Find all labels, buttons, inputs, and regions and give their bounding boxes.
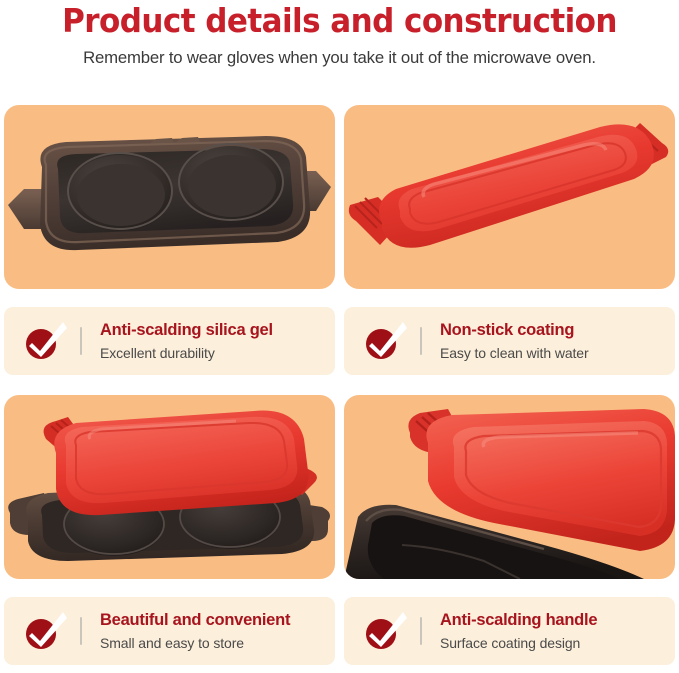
feature-subtitle: Surface coating design [440,631,597,653]
feature-grid: Anti-scalding silica gel Excellent durab… [0,100,679,673]
feature-title: Anti-scalding silica gel [100,320,273,341]
caption-divider [420,617,422,645]
feature-cell-anti-scalding-handle: Anti-scalding handle Surface coating des… [344,395,675,665]
page-subtitle: Remember to wear gloves when you take it… [11,40,668,68]
feature-title: Beautiful and convenient [100,610,290,631]
caption-texts: Beautiful and convenient Small and easy … [100,610,290,653]
feature-cell-anti-scalding-silica-gel: Anti-scalding silica gel Excellent durab… [4,105,335,375]
page-title: Product details and construction [26,0,653,40]
feature-caption: Non-stick coating Easy to clean with wat… [344,307,675,375]
product-photo-handle-closeup [344,395,675,579]
handle-closeup-illustration [344,395,675,579]
caption-texts: Anti-scalding handle Surface coating des… [440,610,597,653]
check-badge-icon [22,609,76,653]
caption-divider [420,327,422,355]
caption-texts: Non-stick coating Easy to clean with wat… [440,320,589,363]
feature-cell-non-stick-coating: Non-stick coating Easy to clean with wat… [344,105,675,375]
check-badge-icon [22,319,76,363]
feature-title: Anti-scalding handle [440,610,597,631]
feature-subtitle: Small and easy to store [100,631,290,653]
feature-caption: Anti-scalding handle Surface coating des… [344,597,675,665]
product-photo-lid [344,105,675,289]
check-badge-icon [362,609,416,653]
caption-divider [80,617,82,645]
feature-subtitle: Easy to clean with water [440,341,589,363]
feature-caption: Beautiful and convenient Small and easy … [4,597,335,665]
tray-illustration [4,105,335,289]
feature-caption: Anti-scalding silica gel Excellent durab… [4,307,335,375]
lid-on-tray-illustration [4,395,335,579]
lid-illustration [344,105,675,289]
product-infographic: Product details and construction Remembe… [0,0,679,673]
caption-texts: Anti-scalding silica gel Excellent durab… [100,320,273,363]
feature-cell-beautiful-and-convenient: Beautiful and convenient Small and easy … [4,395,335,665]
check-badge-icon [362,319,416,363]
caption-divider [80,327,82,355]
product-photo-tray [4,105,335,289]
feature-subtitle: Excellent durability [100,341,273,363]
header: Product details and construction Remembe… [0,0,679,68]
product-photo-lid-on-tray [4,395,335,579]
feature-title: Non-stick coating [440,320,589,341]
